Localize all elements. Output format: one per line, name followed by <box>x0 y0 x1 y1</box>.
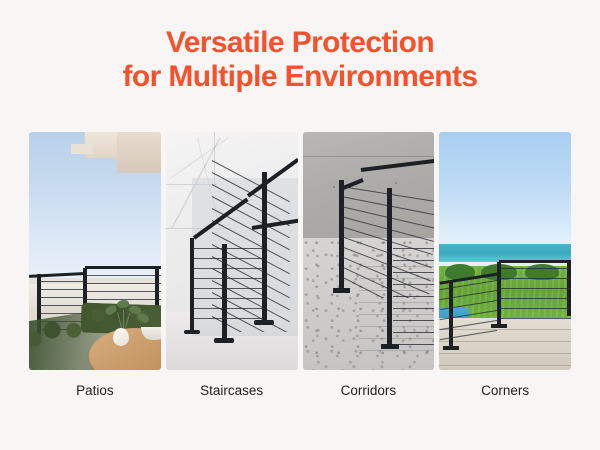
vase <box>113 328 129 346</box>
ceiling-edge <box>71 144 93 154</box>
page-title-line-2: for Multiple Environments <box>0 60 600 94</box>
ceiling-overhang-inner <box>117 132 161 173</box>
railing-top-right <box>499 260 571 263</box>
sky <box>439 132 571 248</box>
form-tie-hole <box>333 186 335 188</box>
gallery-item-patios[interactable] <box>29 132 161 370</box>
gallery-item-corners[interactable] <box>439 132 571 370</box>
railing-cables-horizontal <box>192 244 264 330</box>
page-title: Versatile Protection for Multiple Enviro… <box>0 26 600 94</box>
page-title-line-1: Versatile Protection <box>0 26 600 60</box>
caption-corridors: Corridors <box>303 382 435 400</box>
railing-cables-far <box>393 244 435 362</box>
post-base-plate <box>443 346 459 350</box>
caption-patios: Patios <box>29 382 161 400</box>
image-gallery <box>29 132 571 370</box>
gallery-captions: Patios Staircases Corridors Corners <box>29 382 571 400</box>
gallery-item-staircases[interactable] <box>166 132 298 370</box>
post-base-plate <box>214 338 234 343</box>
caption-staircases: Staircases <box>166 382 298 400</box>
deck-plank-line <box>439 365 571 366</box>
deck-plank-line <box>439 353 571 354</box>
railing-cables-right <box>499 266 571 326</box>
railing-top-right <box>85 266 161 269</box>
patios-photo <box>29 132 161 370</box>
post-base-plate <box>184 330 200 334</box>
wall-seam <box>303 156 435 157</box>
gallery-item-corridors[interactable] <box>303 132 435 370</box>
plant-stem <box>123 310 124 328</box>
railing-cables-left <box>439 278 497 344</box>
corners-photo <box>439 132 571 370</box>
staircases-photo <box>166 132 298 370</box>
caption-corners: Corners <box>439 382 571 400</box>
corridors-photo <box>303 132 435 370</box>
